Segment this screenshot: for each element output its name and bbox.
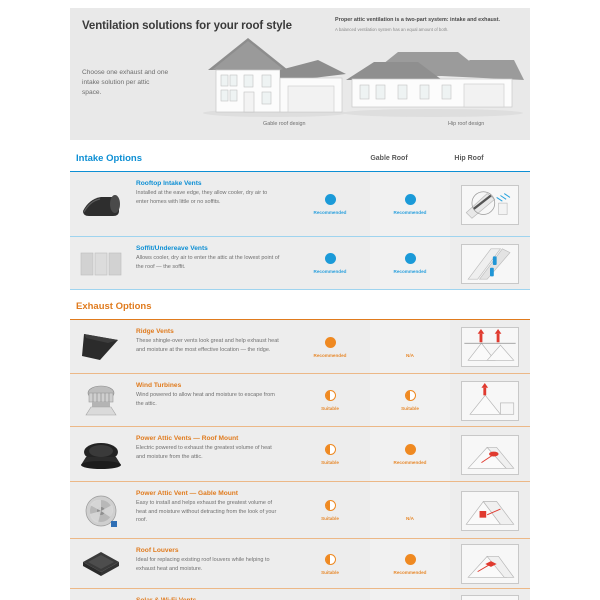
- rating-dot-none: [405, 500, 416, 511]
- rating-cell-gable: Suitable: [290, 374, 370, 427]
- rating-dot-full: [405, 194, 416, 205]
- rating-dot-half: [325, 500, 336, 511]
- section-header-exhaust: Exhaust Options: [70, 298, 530, 320]
- ridge-vent-roof-diagram-icon: [461, 327, 519, 367]
- roof-louver-photo-icon: [79, 549, 123, 579]
- product-description-cell: Soffit/Undereave Vents Allows cooler, dr…: [132, 237, 290, 290]
- hero-note-sub: A balanced ventilation system has an equ…: [335, 27, 525, 33]
- product-desc: Installed at the eave edge, they allow c…: [136, 189, 280, 206]
- rating-dot-full: [405, 554, 416, 565]
- rating-label: N/A: [406, 516, 414, 521]
- rating-cell-hip: Recommended: [370, 237, 450, 290]
- rating-dot-half: [325, 554, 336, 565]
- rating-label: Suitable: [321, 460, 339, 465]
- product-thumbnail: [70, 482, 132, 539]
- power-roof-mount-diagram-icon: [461, 435, 519, 475]
- diagram-cell: [450, 539, 530, 589]
- rating-dot-full: [325, 253, 336, 264]
- product-thumbnail: [70, 172, 132, 237]
- rating-cell-gable: Suitable: [290, 539, 370, 589]
- power-gable-mount-photo-icon: [82, 493, 120, 529]
- rating-label: Recommended: [314, 210, 347, 215]
- rating-cell-gable: Recommended: [290, 172, 370, 237]
- diagram-cell: [450, 374, 530, 427]
- diagram-cell: [450, 237, 530, 290]
- product-desc: Allows cooler, dry air to enter the atti…: [136, 254, 280, 271]
- rating-label: Recommended: [394, 460, 427, 465]
- diagram-cell: [450, 589, 530, 600]
- product-thumbnail: [70, 320, 132, 374]
- rating-label: Recommended: [314, 353, 347, 358]
- rating-cell-gable: Recommended: [290, 320, 370, 374]
- product-description-cell: Power Attic Vent — Gable Mount Easy to i…: [132, 482, 290, 539]
- product-thumbnail: [70, 427, 132, 482]
- rating-cell-gable: Recommended: [290, 237, 370, 290]
- section-title-intake: Intake Options: [76, 153, 142, 164]
- table-row: Power Attic Vent — Gable Mount Easy to i…: [70, 482, 530, 539]
- column-header-hip: Hip Roof: [434, 155, 504, 162]
- product-description-cell: Wind Turbines Wind powered to allow heat…: [132, 374, 290, 427]
- rating-label: Suitable: [321, 406, 339, 411]
- table-row: Soffit/Undereave Vents Allows cooler, dr…: [70, 237, 530, 290]
- product-name: Ridge Vents: [136, 328, 280, 335]
- product-desc: Wind powered to allow heat and moisture …: [136, 391, 280, 408]
- table-row: Roof Louvers Ideal for replacing existin…: [70, 539, 530, 589]
- rating-dot-half: [325, 390, 336, 401]
- rating-dot-half: [325, 444, 336, 455]
- infographic-page: Ventilation solutions for your roof styl…: [0, 0, 600, 600]
- rating-dot-full: [405, 253, 416, 264]
- rating-cell-hip: Suitable: [370, 374, 450, 427]
- hero-banner: Ventilation solutions for your roof styl…: [70, 8, 530, 140]
- rating-label: Suitable: [321, 570, 339, 575]
- rating-dot-full: [325, 337, 336, 348]
- product-name: Soffit/Undereave Vents: [136, 245, 280, 252]
- power-roof-mount-photo-icon: [78, 439, 124, 471]
- rating-label: Recommended: [394, 570, 427, 575]
- table-row: Wind Turbines Wind powered to allow heat…: [70, 374, 530, 427]
- product-desc: These shingle-over vents look great and …: [136, 337, 280, 354]
- hip-house-illustration: [338, 46, 528, 118]
- product-thumbnail: [70, 589, 132, 600]
- product-description-cell: Rooftop Intake Vents Installed at the ea…: [132, 172, 290, 237]
- product-description-cell: Ridge Vents These shingle-over vents loo…: [132, 320, 290, 374]
- product-name: Rooftop Intake Vents: [136, 180, 280, 187]
- eave-edge-airflow-diagram-icon: [461, 185, 519, 225]
- table-row: Ridge Vents These shingle-over vents loo…: [70, 320, 530, 374]
- table-row: Power Attic Vents — Roof Mount Electric …: [70, 427, 530, 482]
- rating-label: Suitable: [321, 516, 339, 521]
- wind-turbine-roof-diagram-icon: [461, 381, 519, 421]
- rating-label: Recommended: [314, 269, 347, 274]
- diagram-cell: [450, 172, 530, 237]
- diagram-cell: [450, 482, 530, 539]
- power-gable-mount-diagram-icon: [461, 491, 519, 531]
- product-desc: Electric powered to exhaust the greatest…: [136, 444, 280, 461]
- gable-house-illustration: [200, 30, 350, 118]
- rating-cell-hip: Recommended: [370, 539, 450, 589]
- diagram-cell: [450, 427, 530, 482]
- rating-cell-hip: Recommended: [370, 427, 450, 482]
- rating-label: Recommended: [394, 269, 427, 274]
- section-title-exhaust: Exhaust Options: [76, 301, 151, 312]
- product-name: Power Attic Vents — Roof Mount: [136, 435, 280, 442]
- rating-cell-gable: Suitable: [290, 427, 370, 482]
- rating-dot-full: [325, 194, 336, 205]
- product-thumbnail: [70, 237, 132, 290]
- hero-note: Proper attic ventilation is a two-part s…: [335, 17, 525, 33]
- table-row: Solar & Wi-Fi Vents Advanced technology …: [70, 589, 530, 600]
- product-description-cell: Power Attic Vents — Roof Mount Electric …: [132, 427, 290, 482]
- wind-turbine-photo-icon: [82, 383, 120, 419]
- rating-dot-none: [405, 337, 416, 348]
- hero-subtitle: Choose one exhaust and one intake soluti…: [82, 68, 170, 99]
- hero-note-main: Proper attic ventilation is a two-part s…: [335, 17, 525, 25]
- product-name: Roof Louvers: [136, 547, 280, 554]
- rating-cell-hip: Recommended: [370, 172, 450, 237]
- rating-cell-hip: N/A: [370, 320, 450, 374]
- ventilation-options-table: Intake Options Gable Roof Hip Roof Rooft…: [70, 150, 530, 600]
- rating-dot-half: [405, 390, 416, 401]
- rolled-rooftop-vent-photo-icon: [79, 189, 123, 221]
- rating-dot-full: [405, 444, 416, 455]
- row-divider: [70, 289, 530, 290]
- product-name: Wind Turbines: [136, 382, 280, 389]
- rating-cell-gable: Suitable: [290, 589, 370, 600]
- table-row: Rooftop Intake Vents Installed at the ea…: [70, 172, 530, 237]
- soffit-airflow-diagram-icon: [461, 244, 519, 284]
- gable-roof-caption: Gable roof design: [263, 121, 306, 127]
- rating-cell-gable: Suitable: [290, 482, 370, 539]
- column-header-gable: Gable Roof: [354, 155, 424, 162]
- product-thumbnail: [70, 374, 132, 427]
- solar-vent-roof-diagram-icon: [461, 595, 519, 600]
- ridge-vent-photo-icon: [78, 330, 124, 364]
- section-header-intake: Intake Options Gable Roof Hip Roof: [70, 150, 530, 172]
- rating-label: N/A: [406, 353, 414, 358]
- product-desc: Ideal for replacing existing roof louver…: [136, 556, 280, 573]
- rating-label: Suitable: [401, 406, 419, 411]
- product-description-cell: Roof Louvers Ideal for replacing existin…: [132, 539, 290, 589]
- product-description-cell: Solar & Wi-Fi Vents Advanced technology …: [132, 589, 290, 600]
- roof-louver-diagram-icon: [461, 544, 519, 584]
- diagram-cell: [450, 320, 530, 374]
- product-desc: Easy to install and helps exhaust the gr…: [136, 499, 280, 525]
- product-thumbnail: [70, 539, 132, 589]
- hip-roof-caption: Hip roof design: [448, 121, 484, 127]
- product-name: Power Attic Vent — Gable Mount: [136, 490, 280, 497]
- soffit-panel-photo-icon: [79, 251, 123, 277]
- rating-cell-hip: N/A: [370, 482, 450, 539]
- rating-label: Recommended: [394, 210, 427, 215]
- rating-cell-hip: Recommended: [370, 589, 450, 600]
